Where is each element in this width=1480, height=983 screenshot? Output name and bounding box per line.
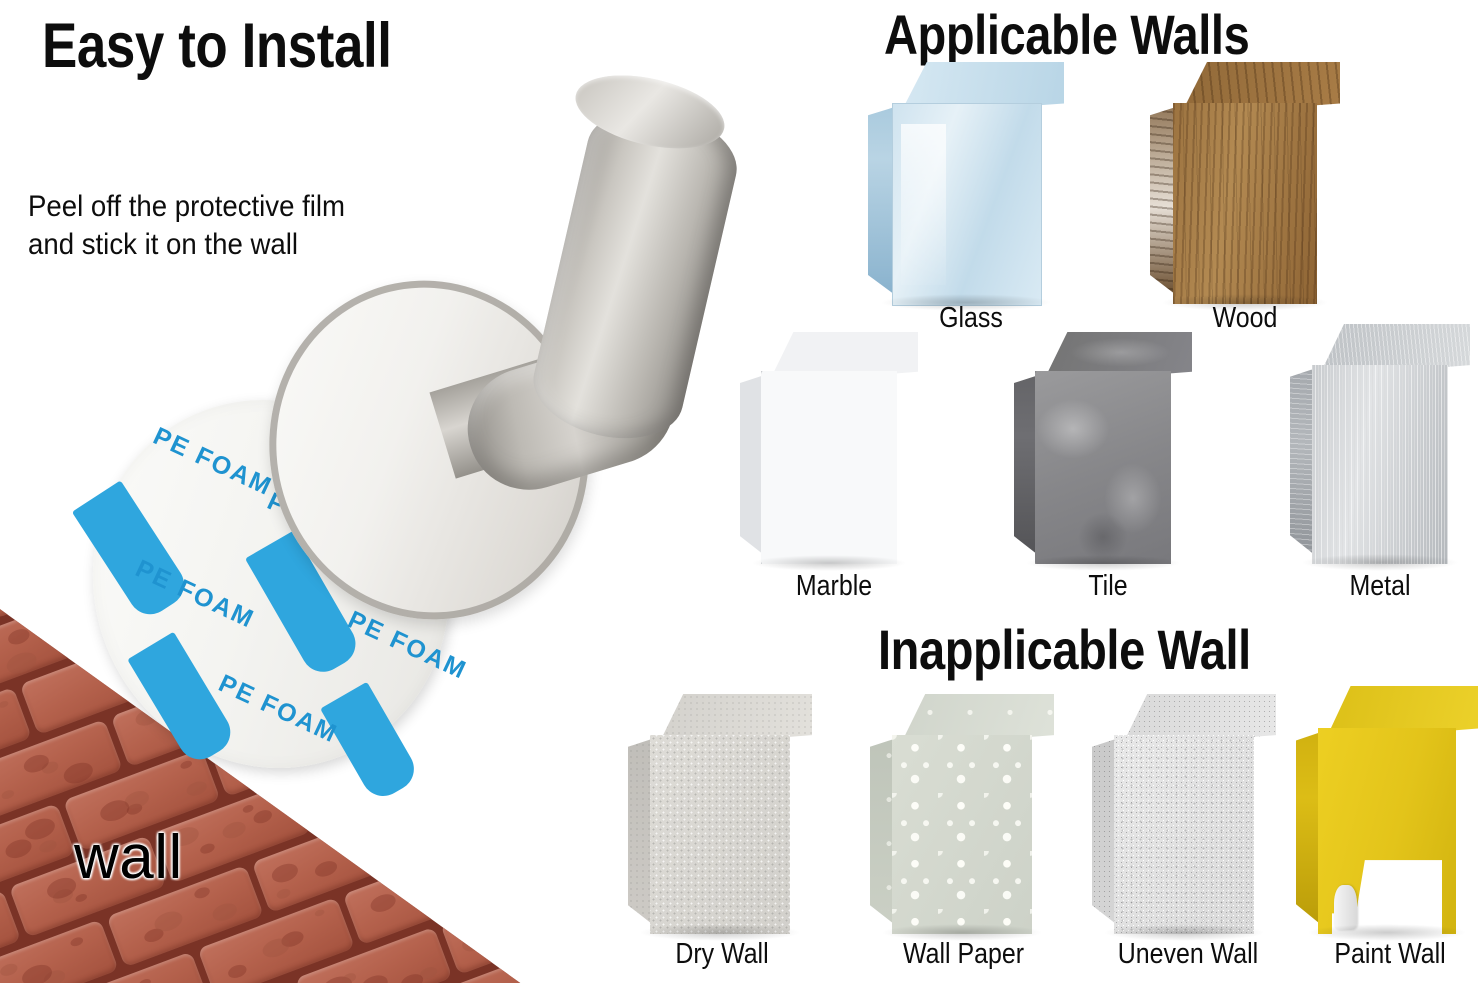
brick-speckle: [502, 706, 525, 725]
brick-speckle: [37, 630, 52, 642]
brick-speckle: [314, 908, 326, 917]
brick-speckle: [368, 891, 398, 915]
material-block-tile: [1014, 332, 1192, 564]
material-label-paint-wall: Paint Wall: [1313, 938, 1468, 971]
brick-speckle: [527, 639, 550, 658]
brick-speckle: [43, 570, 58, 582]
brick-speckle: [412, 889, 432, 905]
material-label-uneven-wall: Uneven Wall: [1102, 938, 1274, 971]
brick-speckle: [0, 962, 19, 979]
material-block-metal: [1290, 324, 1470, 564]
tile-shadow: [1025, 555, 1182, 571]
brick-speckle: [0, 789, 15, 801]
brick-speckle: [138, 978, 152, 983]
marble-front-face: [761, 371, 896, 564]
hook-arm: [524, 96, 746, 452]
tile-front-face: [1035, 371, 1170, 564]
material-label-metal: Metal: [1311, 570, 1449, 603]
material-block-glass: [868, 62, 1064, 304]
glass-front-face: [892, 103, 1043, 306]
brick-speckle: [359, 972, 390, 983]
brick-speckle: [541, 649, 550, 659]
brick: [397, 756, 550, 858]
drywall-front-face: [650, 735, 790, 934]
brick-speckle: [275, 887, 291, 900]
brick-speckle: [0, 700, 9, 709]
brick: [0, 560, 36, 589]
infographic-canvas: Easy to Install Peel off the protective …: [0, 0, 1480, 983]
material-label-glass: Glass: [907, 302, 1036, 335]
adhesive-wall-hook: [250, 55, 720, 635]
wood-front-face: [1173, 103, 1317, 304]
brick-speckle: [486, 775, 521, 803]
paint-front-face: [1318, 728, 1456, 934]
brick-speckle: [509, 725, 542, 752]
brick-speckle: [252, 808, 274, 826]
material-block-wood: [1150, 62, 1340, 304]
brick-speckle: [4, 649, 40, 678]
brick-speckle: [22, 571, 57, 599]
brick: [542, 702, 550, 804]
brick-speckle: [541, 707, 550, 717]
material-label-wallpaper: Wall Paper: [880, 938, 1048, 971]
metal-front-face: [1312, 365, 1449, 564]
metal-shadow: [1301, 554, 1459, 571]
material-label-drywall: Dry Wall: [645, 938, 800, 971]
uneven-front-face: [1114, 735, 1254, 934]
material-block-drywall: [628, 694, 812, 934]
wall-label: wall: [74, 822, 183, 893]
material-label-tile: Tile: [1039, 570, 1177, 603]
brick-speckle: [6, 626, 31, 646]
brick-speckle: [489, 935, 507, 950]
brick-speckle: [429, 826, 449, 842]
material-label-marble: Marble: [765, 570, 903, 603]
brick-speckle: [519, 643, 536, 657]
brick-speckle: [193, 885, 211, 900]
material-block-uneven-wall: [1092, 694, 1276, 934]
brick-speckle: [445, 884, 480, 912]
brick-speckle: [506, 782, 530, 802]
material-block-wallpaper: [870, 694, 1054, 934]
brick-speckle: [226, 962, 248, 980]
brick-speckle: [548, 965, 550, 983]
material-block-marble: [740, 332, 918, 564]
wallpaper-front-face: [892, 735, 1032, 934]
brick-speckle: [74, 893, 88, 904]
brick-speckle: [199, 842, 216, 856]
brick: [440, 873, 550, 975]
brick-speckle: [460, 931, 489, 954]
brick-speckle: [61, 759, 96, 787]
brick: [531, 905, 550, 983]
paint-peel-curl: [1334, 885, 1356, 930]
brick-speckle: [38, 838, 59, 855]
brick-speckle: [341, 971, 357, 983]
brick: [488, 789, 550, 891]
section-title-applicable-walls: Applicable Walls: [884, 2, 1249, 67]
brick-speckle: [315, 780, 340, 800]
section-title-inapplicable-wall: Inapplicable Wall: [878, 617, 1251, 682]
brick-speckle: [269, 860, 300, 885]
brick-speckle: [313, 858, 340, 879]
brick-speckle: [485, 936, 509, 956]
brick-speckle: [509, 905, 523, 916]
brick-speckle: [3, 836, 34, 861]
material-block-paint-wall: [1296, 686, 1478, 934]
brick-speckle: [210, 900, 239, 923]
brick-speckle: [69, 936, 84, 948]
brick-speckle: [445, 820, 459, 831]
brick-speckle: [220, 819, 248, 841]
marble-shadow: [751, 555, 908, 571]
brick-speckle: [511, 780, 541, 804]
